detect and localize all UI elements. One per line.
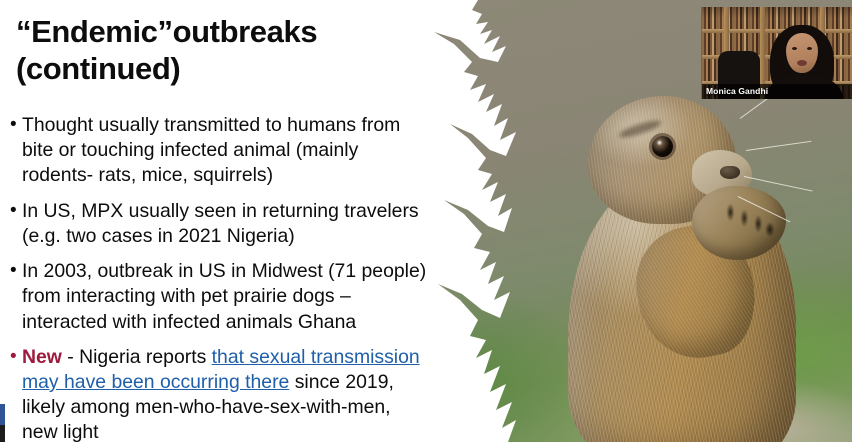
- bullet-marker-icon: •: [10, 113, 17, 138]
- participant-eye: [792, 47, 797, 50]
- participant-mouth: [797, 60, 807, 66]
- bullet-2003-outbreak: • In 2003, outbreak in US in Midwest (71…: [4, 259, 428, 335]
- participant-eye: [807, 47, 812, 50]
- bullet-marker-icon: •: [10, 199, 17, 224]
- slide-body-bullets: • Thought usually transmitted to humans …: [4, 113, 428, 442]
- participant-face: [786, 33, 818, 73]
- bullet-marker-icon: •: [10, 259, 17, 284]
- torn-edge-mask: [420, 0, 600, 442]
- prairie-dog-eye: [652, 136, 673, 157]
- new-keyword: New: [22, 346, 62, 368]
- presentation-slide: “Endemic”outbreaks (continued) • Thought…: [0, 0, 852, 442]
- bullet-nigeria-new: •New - Nigeria reports that sexual trans…: [4, 345, 428, 442]
- bullet-us-travelers: • In US, MPX usually seen in returning t…: [4, 199, 428, 249]
- participant-name-label: Monica Gandhi: [706, 86, 768, 96]
- bullet-text: In US, MPX usually seen in returning tra…: [22, 200, 419, 247]
- bullet-text: In 2003, outbreak in US in Midwest (71 p…: [22, 260, 426, 332]
- bullet-transmission: • Thought usually transmitted to humans …: [4, 113, 428, 189]
- slide-title-line2: (continued): [16, 51, 436, 88]
- slide-title-line1: “Endemic”outbreaks: [16, 14, 436, 51]
- bullet-lead-text: - Nigeria reports: [62, 346, 212, 368]
- prairie-dog-nose: [720, 166, 740, 179]
- bullet-marker-icon: •: [10, 345, 17, 370]
- bullet-text: Thought usually transmitted to humans fr…: [22, 114, 400, 186]
- webcam-overlay[interactable]: Monica Gandhi: [701, 7, 852, 99]
- prairie-dog-claws: [720, 196, 778, 244]
- slide-edge-accent: [0, 404, 5, 442]
- slide-title: “Endemic”outbreaks (continued): [16, 14, 436, 87]
